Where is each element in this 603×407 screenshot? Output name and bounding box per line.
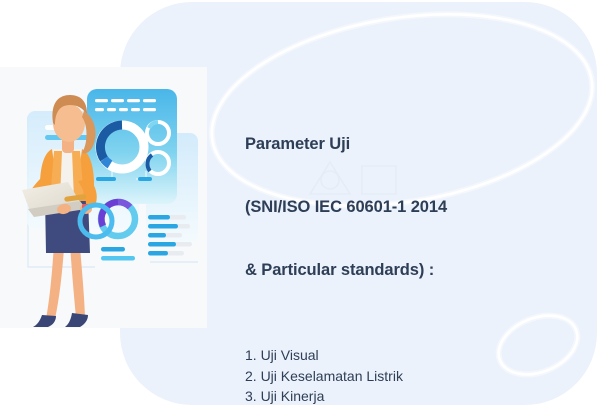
slide-canvas: Parameter Uji (SNI/ISO IEC 60601-1 2014 …	[0, 0, 603, 407]
text-column: Parameter Uji (SNI/ISO IEC 60601-1 2014 …	[245, 92, 575, 407]
parameter-list: 1. Uji Visual 2. Uji Keselamatan Listrik…	[245, 345, 575, 407]
illustration-panel	[0, 67, 207, 328]
title-line-1: Parameter Uji	[245, 134, 575, 155]
list-item: 1. Uji Visual	[245, 345, 575, 366]
title-line-2: (SNI/ISO IEC 60601-1 2014	[245, 197, 575, 218]
business-analytics-woman-illustration	[0, 67, 207, 328]
page-title: Parameter Uji (SNI/ISO IEC 60601-1 2014 …	[245, 92, 575, 323]
title-line-3: & Particular standards) :	[245, 260, 575, 281]
list-item: 3. Uji Kinerja	[245, 386, 575, 407]
dashboard-card	[87, 89, 177, 204]
list-item: 2. Uji Keselamatan Listrik	[245, 366, 575, 387]
